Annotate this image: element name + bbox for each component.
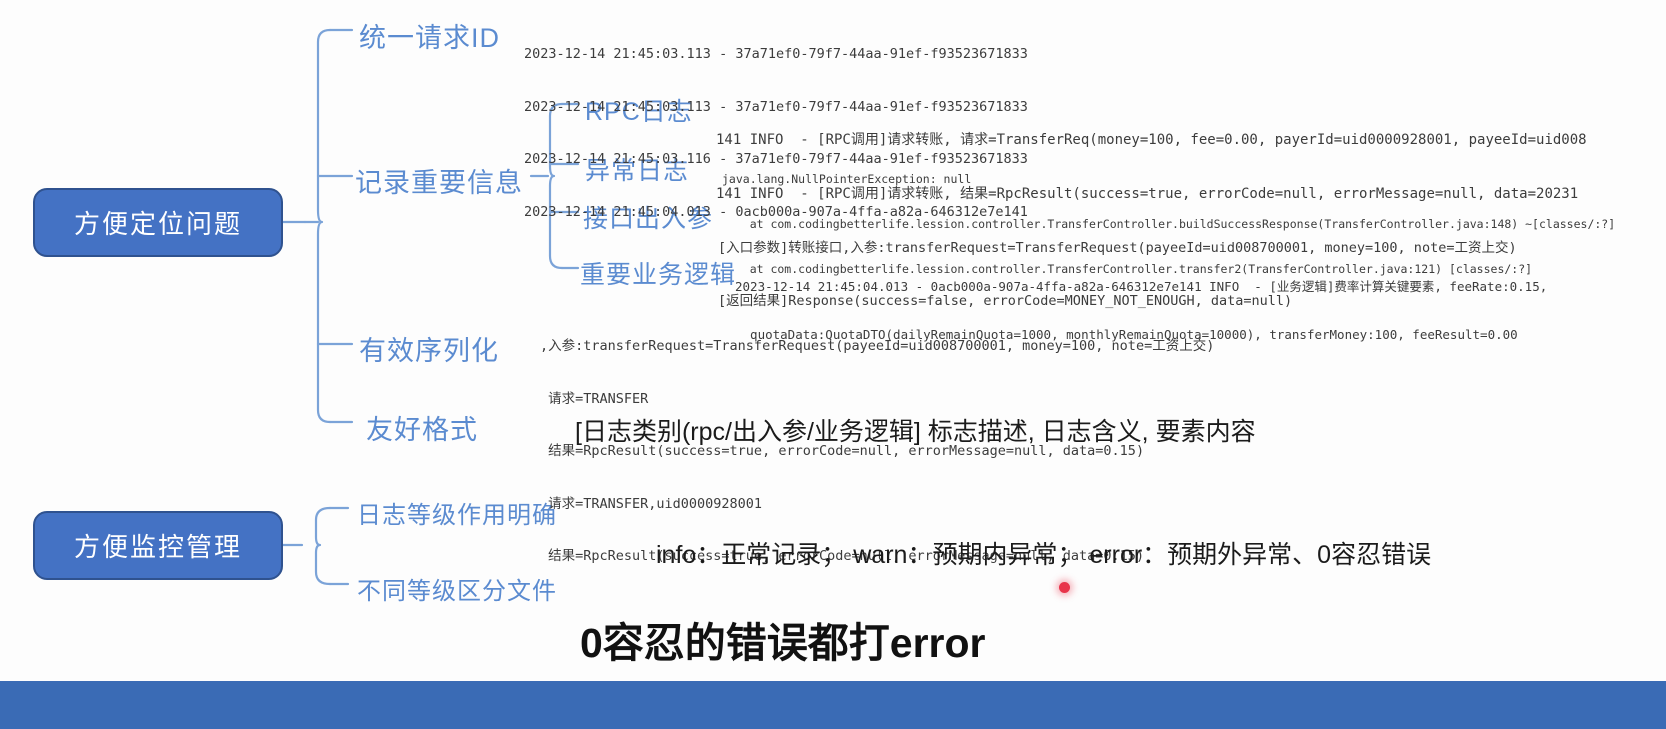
friendly-format-example: [日志类别(rpc/出入参/业务逻辑] 标志描述, 日志含义, 要素内容 [575, 412, 1256, 448]
log-line: java.lang.NullPointerException: null [722, 172, 1666, 187]
bracket-topic1 [318, 30, 330, 422]
topic-box-monitor-management[interactable]: 方便监控管理 [33, 511, 283, 580]
bottom-blue-bar [0, 681, 1666, 729]
log-line: ,入参:transferRequest=TransferRequest(paye… [540, 338, 1666, 356]
log-line: 2023-12-14 21:45:03.113 - 37a71ef0-79f7-… [524, 46, 1664, 64]
topic-label: 方便定位问题 [74, 204, 242, 241]
branch-label-record-key-info[interactable]: 记录重要信息 [355, 161, 523, 200]
subbranch-label-business-logic[interactable]: 重要业务逻辑 [580, 255, 736, 291]
topic-label: 方便监控管理 [74, 527, 242, 564]
branch-label-separate-files[interactable]: 不同等级区分文件 [357, 571, 557, 606]
bracket-topic2 [316, 508, 330, 584]
laser-pointer-dot [1059, 582, 1070, 593]
branch-label-log-level-clear[interactable]: 日志等级作用明确 [357, 495, 557, 530]
slide-canvas: 方便定位问题 方便监控管理 统一请求ID 记录重要信息 有效序列化 友好格式 日… [0, 0, 1666, 729]
topic-box-locate-problems[interactable]: 方便定位问题 [33, 188, 283, 257]
log-line: 请求=TRANSFER,uid0000928001 [540, 496, 1666, 514]
branch-label-unified-request-id[interactable]: 统一请求ID [359, 16, 500, 55]
branch-label-effective-serialization[interactable]: 有效序列化 [359, 329, 499, 368]
log-levels-description: info：正常记录； warn：预期内异常； error：预期外异常、0容忍错误 [656, 535, 1431, 571]
log-line: 请求=TRANSFER [540, 391, 1666, 409]
branch-label-friendly-format[interactable]: 友好格式 [366, 408, 478, 447]
log-line: 2023-12-14 21:45:04.013 - 0acb000a-907a-… [735, 279, 1666, 295]
headline-zero-tolerance: 0容忍的错误都打error [580, 609, 986, 669]
